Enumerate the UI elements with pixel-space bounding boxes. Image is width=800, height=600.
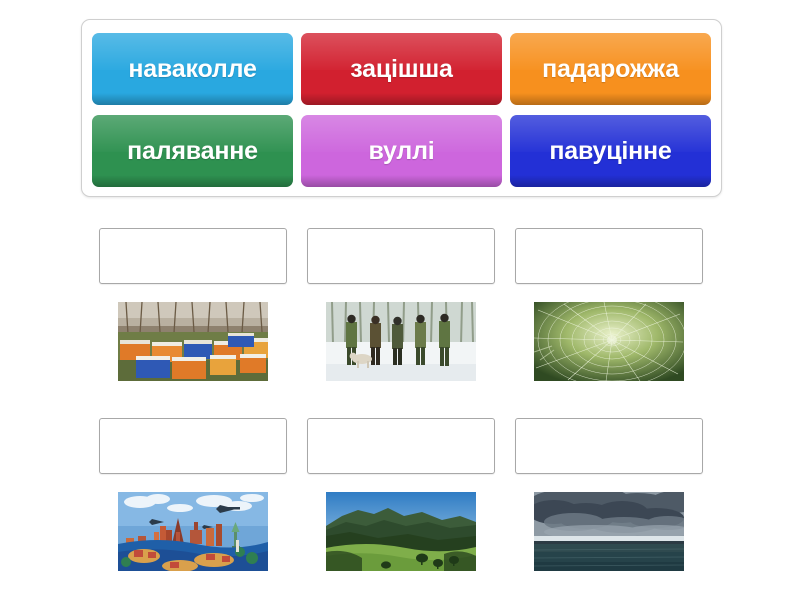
word-tile-zatsishsha[interactable]: зацішша (301, 33, 502, 105)
answer-item-hunters (307, 228, 495, 381)
word-tile-label: вуллі (368, 139, 434, 164)
word-tile-vulli[interactable]: вуллі (301, 115, 502, 187)
spider-web-photo (534, 302, 684, 381)
answer-item-storm-sea (515, 418, 703, 571)
hunters-in-snow-photo (326, 302, 476, 381)
image-wrapper (99, 302, 287, 381)
drop-zone-landscape[interactable] (307, 418, 495, 474)
drop-zone-spider-web[interactable] (515, 228, 703, 284)
answer-item-travel (99, 418, 287, 571)
beehives-photo (118, 302, 268, 381)
word-tile-label: зацішша (350, 57, 453, 82)
word-bank-row-2: паляванне вуллі павуцінне (92, 115, 711, 187)
answer-item-beehives (99, 228, 287, 381)
word-tile-palyavanne[interactable]: паляванне (92, 115, 293, 187)
drop-zone-hunters[interactable] (307, 228, 495, 284)
drop-zone-storm-sea[interactable] (515, 418, 703, 474)
word-tile-padarozhzha[interactable]: падарожжа (510, 33, 711, 105)
green-hills-landscape-photo (326, 492, 476, 571)
word-tile-label: падарожжа (542, 57, 679, 82)
word-tile-label: наваколле (128, 57, 256, 82)
answer-item-landscape (307, 418, 495, 571)
image-wrapper (515, 492, 703, 571)
storm-clouds-over-sea-photo (534, 492, 684, 571)
word-bank-row-1: наваколле зацішша падарожжа (92, 33, 711, 105)
word-tile-pavutsinne[interactable]: павуцінне (510, 115, 711, 187)
word-tile-label: павуцінне (549, 139, 671, 164)
drop-zone-travel[interactable] (99, 418, 287, 474)
image-wrapper (307, 302, 495, 381)
word-bank-panel: наваколле зацішша падарожжа паляванне ву… (81, 19, 722, 197)
image-wrapper (307, 492, 495, 571)
word-tile-navakolle[interactable]: наваколле (92, 33, 293, 105)
image-wrapper (515, 302, 703, 381)
travel-landmarks-collage-photo (118, 492, 268, 571)
answer-item-spider-web (515, 228, 703, 381)
image-wrapper (99, 492, 287, 571)
word-tile-label: паляванне (127, 139, 258, 164)
drop-zone-beehives[interactable] (99, 228, 287, 284)
